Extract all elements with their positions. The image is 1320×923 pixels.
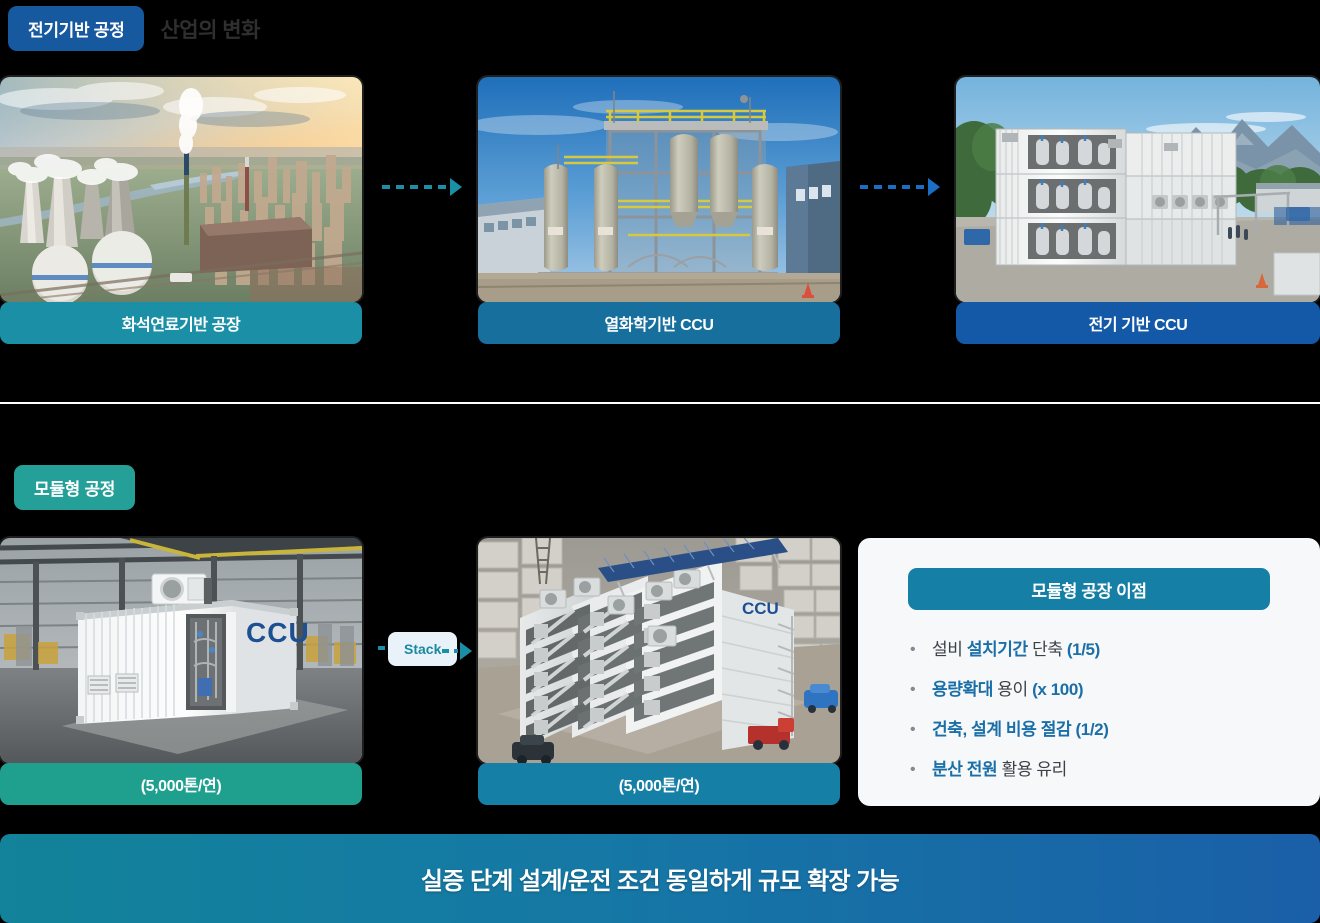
- arrow-thermo-to-electric: [860, 178, 944, 196]
- bottom-banner-text: 실증 단계 설계/운전 조건 동일하게 규모 확장 가능: [421, 861, 899, 896]
- section-1-header: 전기기반 공정 산업의 변화: [8, 6, 260, 51]
- list-item: • 용량확대 용이 (x 100): [910, 676, 1320, 704]
- fossil-plant-illustration: [0, 77, 362, 302]
- bullet-icon: •: [910, 716, 932, 744]
- arrow-head: [460, 642, 472, 660]
- caption-electric-ccu: 전기 기반 CCU: [956, 302, 1320, 344]
- image-electric-ccu: [956, 77, 1320, 302]
- image-thermochemical-ccu: [478, 77, 840, 302]
- arrow-dash: [860, 185, 926, 189]
- list-item: • 분산 전원 활용 유리: [910, 756, 1320, 784]
- caption-single-module: (5,000톤/연): [0, 763, 362, 805]
- arrow-dash: [382, 185, 448, 189]
- benefit-text-3: 건축, 설계 비용 절감 (1/2): [932, 716, 1109, 744]
- card-stacked-modules[interactable]: CCU: [478, 538, 840, 806]
- svg-text:CCU: CCU: [742, 599, 779, 618]
- section-1-badge: 전기기반 공정: [8, 6, 144, 51]
- arrow-dash: [442, 649, 458, 653]
- stacked-ccu-illustration: CCU: [478, 538, 840, 763]
- bottom-banner: 실증 단계 설계/운전 조건 동일하게 규모 확장 가능: [0, 834, 1320, 923]
- caption-stacked-modules: (5,000톤/연): [478, 763, 840, 805]
- section-divider: [0, 402, 1320, 404]
- section-2-header: 모듈형 공정: [14, 465, 135, 510]
- stack-arrow-right: [442, 642, 476, 660]
- arrow-head: [928, 178, 940, 196]
- benefits-list: • 설비 설치기간 단축 (1/5) • 용량확대 용이 (x 100) • 건…: [910, 636, 1320, 784]
- slide-root: 전기기반 공정 산업의 변화: [0, 0, 1320, 923]
- benefit-text-4: 분산 전원 활용 유리: [932, 756, 1067, 784]
- benefits-panel: 모듈형 공장 이점 • 설비 설치기간 단축 (1/5) • 용량확대 용이 (…: [858, 538, 1320, 806]
- card-electric-ccu[interactable]: 전기 기반 CCU: [956, 77, 1320, 342]
- section-2-badge: 모듈형 공정: [14, 465, 135, 510]
- list-item: • 건축, 설계 비용 절감 (1/2): [910, 716, 1320, 744]
- bullet-icon: •: [910, 636, 932, 664]
- card-thermochemical-ccu[interactable]: 열화학기반 CCU: [478, 77, 840, 342]
- electric-ccu-illustration: [956, 77, 1320, 302]
- arrow-head: [450, 178, 462, 196]
- card-single-module[interactable]: CCU (5,000톤/연): [0, 538, 362, 806]
- benefit-text-2: 용량확대 용이 (x 100): [932, 676, 1083, 704]
- section-1-subtitle: 산업의 변화: [160, 14, 259, 44]
- caption-thermochemical-ccu: 열화학기반 CCU: [478, 302, 840, 344]
- caption-fossil-plant: 화석연료기반 공장: [0, 302, 362, 344]
- benefits-panel-title: 모듈형 공장 이점: [908, 568, 1270, 610]
- card-fossil-plant[interactable]: 화석연료기반 공장: [0, 77, 362, 342]
- image-single-module: CCU: [0, 538, 362, 763]
- single-ccu-module-illustration: CCU: [0, 538, 362, 763]
- list-item: • 설비 설치기간 단축 (1/5): [910, 636, 1320, 664]
- image-stacked-modules: CCU: [478, 538, 840, 763]
- benefit-text-1: 설비 설치기간 단축 (1/5): [932, 636, 1100, 664]
- image-fossil-plant: [0, 77, 362, 302]
- thermochemical-plant-illustration: [478, 77, 840, 302]
- arrow-fossil-to-thermo: [382, 178, 466, 196]
- bullet-icon: •: [910, 756, 932, 784]
- svg-text:CCU: CCU: [246, 617, 310, 648]
- bullet-icon: •: [910, 676, 932, 704]
